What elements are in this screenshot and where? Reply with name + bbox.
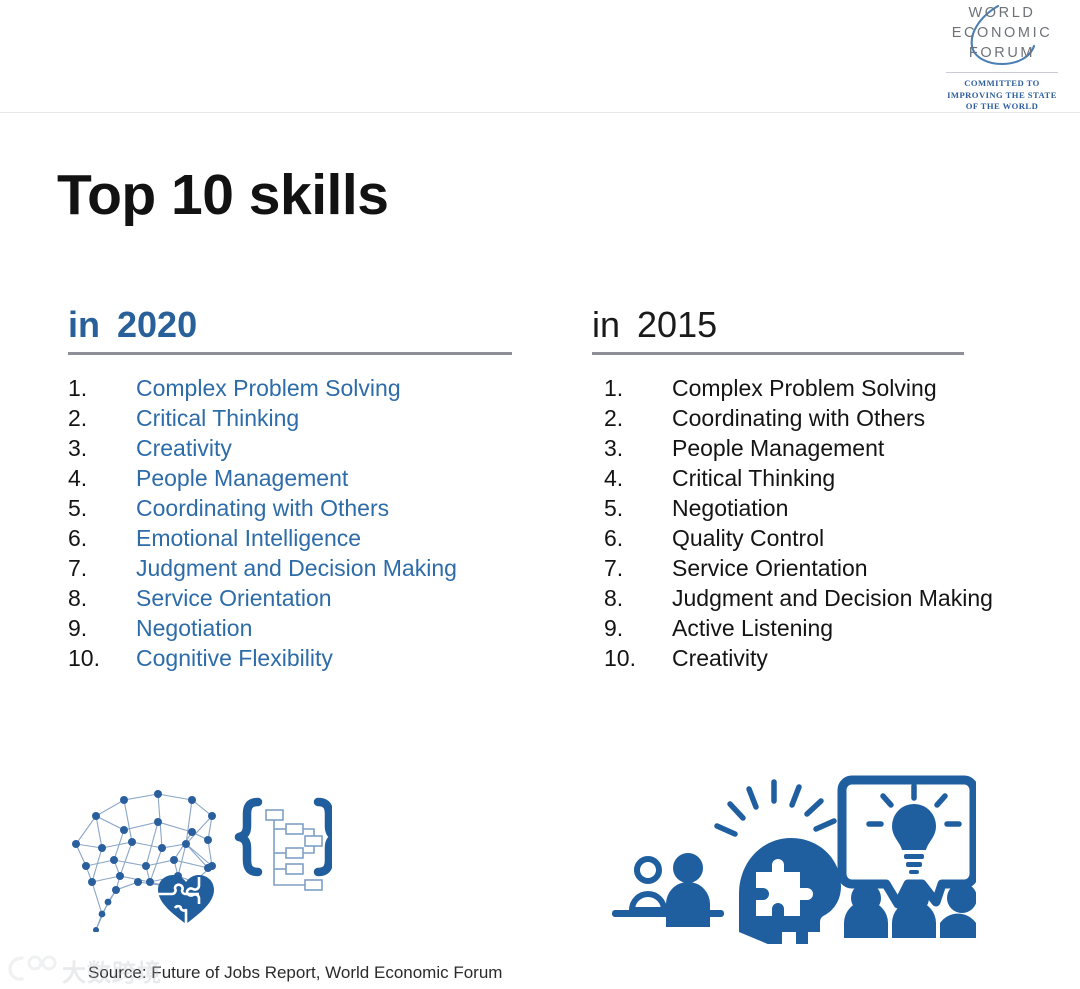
column-prefix-2020: in xyxy=(68,304,100,345)
skill-rank: 3. xyxy=(68,433,136,463)
skill-row: 8.Judgment and Decision Making xyxy=(592,583,964,613)
skill-rank: 8. xyxy=(68,583,136,613)
skill-label: Complex Problem Solving xyxy=(672,373,937,403)
skill-label: Creativity xyxy=(136,433,232,463)
logo-tagline-line-1: COMMITTED TO xyxy=(938,78,1066,90)
skill-label: Judgment and Decision Making xyxy=(136,553,457,583)
logo-tagline-line-2: IMPROVING THE STATE xyxy=(938,90,1066,102)
skills-column-2020: in2020 1.Complex Problem Solving2.Critic… xyxy=(68,306,512,673)
skill-rank: 6. xyxy=(592,523,672,553)
column-header-2020: in2020 xyxy=(68,306,512,346)
skill-rank: 10. xyxy=(68,643,136,673)
skill-row: 8.Service Orientation xyxy=(68,583,512,613)
skill-row: 3.People Management xyxy=(592,433,964,463)
skill-rank: 9. xyxy=(592,613,672,643)
column-prefix-2015: in xyxy=(592,304,620,345)
skill-row: 2.Coordinating with Others xyxy=(592,403,964,433)
skill-rank: 4. xyxy=(592,463,672,493)
logo-wordmark: WORLD ECONOMIC FORUM xyxy=(938,4,1066,64)
skill-row: 3.Creativity xyxy=(68,433,512,463)
skill-label: Emotional Intelligence xyxy=(136,523,361,553)
skill-rank: 5. xyxy=(68,493,136,523)
skill-row: 4.Critical Thinking xyxy=(592,463,964,493)
skill-rank: 7. xyxy=(68,553,136,583)
logo-word-forum: FORUM xyxy=(938,46,1066,61)
skills-list-2015: 1.Complex Problem Solving2.Coordinating … xyxy=(592,373,964,673)
skill-rank: 3. xyxy=(592,433,672,463)
skill-row: 5.Coordinating with Others xyxy=(68,493,512,523)
skill-rank: 1. xyxy=(592,373,672,403)
skill-rank: 10. xyxy=(592,643,672,673)
illustration-right-group xyxy=(604,772,976,944)
skill-row: 1.Complex Problem Solving xyxy=(68,373,512,403)
column-year-2020: 2020 xyxy=(117,304,197,345)
watermark-logo-icon xyxy=(8,952,60,984)
skill-rank: 6. xyxy=(68,523,136,553)
skill-label: Critical Thinking xyxy=(136,403,299,433)
skills-list-2020: 1.Complex Problem Solving2.Critical Thin… xyxy=(68,373,512,673)
skill-label: Coordinating with Others xyxy=(136,493,389,523)
skill-label: Negotiation xyxy=(136,613,252,643)
header-divider xyxy=(0,112,1080,113)
header-bar: WORLD ECONOMIC FORUM COMMITTED TO IMPROV… xyxy=(0,0,1080,113)
skill-rank: 8. xyxy=(592,583,672,613)
skill-rank: 7. xyxy=(592,553,672,583)
skill-label: People Management xyxy=(136,463,348,493)
skill-label: Creativity xyxy=(672,643,768,673)
skill-label: Cognitive Flexibility xyxy=(136,643,333,673)
skill-label: People Management xyxy=(672,433,884,463)
column-year-2015: 2015 xyxy=(637,304,717,345)
logo-tagline-divider xyxy=(946,72,1058,73)
skill-row: 7.Service Orientation xyxy=(592,553,964,583)
skill-row: 6.Quality Control xyxy=(592,523,964,553)
code-braces-flowchart-icon xyxy=(239,802,332,890)
skill-label: Active Listening xyxy=(672,613,833,643)
skills-column-2015: in2015 1.Complex Problem Solving2.Coordi… xyxy=(592,306,964,673)
column-rule-2015 xyxy=(592,352,964,355)
skill-row: 1.Complex Problem Solving xyxy=(592,373,964,403)
skill-row: 9.Active Listening xyxy=(592,613,964,643)
skill-label: Complex Problem Solving xyxy=(136,373,401,403)
skill-row: 10.Creativity xyxy=(592,643,964,673)
three-people-icon xyxy=(844,883,976,938)
skill-rank: 4. xyxy=(68,463,136,493)
skill-label: Negotiation xyxy=(672,493,788,523)
skill-label: Quality Control xyxy=(672,523,824,553)
skill-rank: 1. xyxy=(68,373,136,403)
two-people-icon xyxy=(612,853,724,927)
skill-rank: 5. xyxy=(592,493,672,523)
skill-rank: 2. xyxy=(592,403,672,433)
skill-label: Service Orientation xyxy=(672,553,868,583)
logo-tagline-line-3: OF THE WORLD xyxy=(938,101,1066,113)
skill-row: 6.Emotional Intelligence xyxy=(68,523,512,553)
skill-label: Service Orientation xyxy=(136,583,332,613)
skill-row: 2.Critical Thinking xyxy=(68,403,512,433)
skill-label: Coordinating with Others xyxy=(672,403,925,433)
skill-row: 10.Cognitive Flexibility xyxy=(68,643,512,673)
illustration-left-group xyxy=(62,782,332,932)
skill-row: 7.Judgment and Decision Making xyxy=(68,553,512,583)
logo-word-economic: ECONOMIC xyxy=(938,26,1066,41)
page-title: Top 10 skills xyxy=(57,166,388,226)
skill-rank: 2. xyxy=(68,403,136,433)
skill-row: 4.People Management xyxy=(68,463,512,493)
source-note: Source: Future of Jobs Report, World Eco… xyxy=(88,963,502,983)
skill-label: Critical Thinking xyxy=(672,463,835,493)
skill-row: 9.Negotiation xyxy=(68,613,512,643)
skill-label: Judgment and Decision Making xyxy=(672,583,993,613)
column-header-2015: in2015 xyxy=(592,306,964,346)
skill-row: 5.Negotiation xyxy=(592,493,964,523)
logo-word-world: WORLD xyxy=(938,6,1066,21)
head-puzzle-idea-icon xyxy=(717,782,841,944)
skill-rank: 9. xyxy=(68,613,136,643)
world-economic-forum-logo: WORLD ECONOMIC FORUM COMMITTED TO IMPROV… xyxy=(938,4,1066,113)
column-rule-2020 xyxy=(68,352,512,355)
